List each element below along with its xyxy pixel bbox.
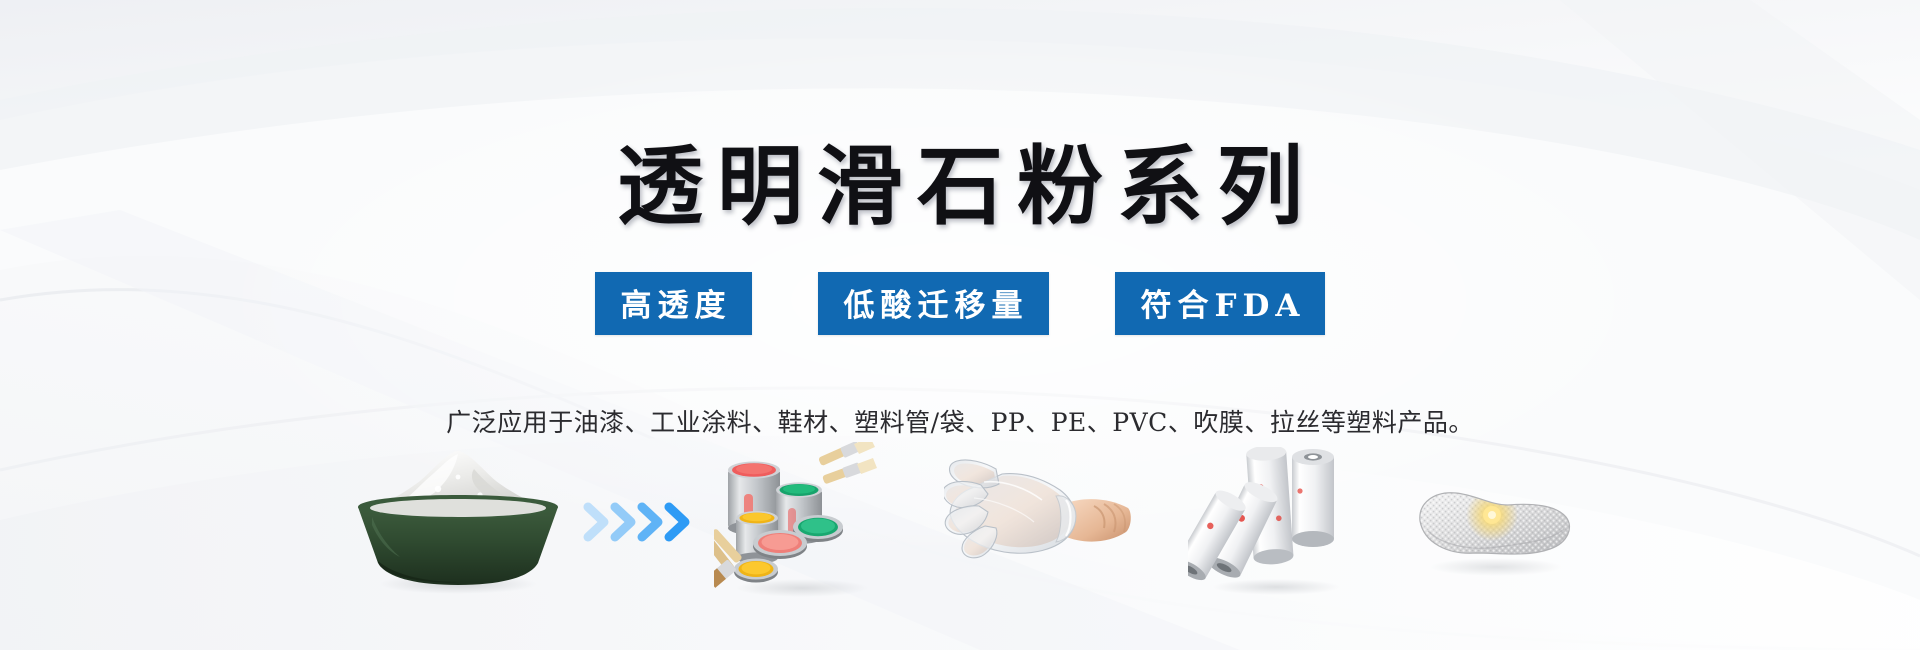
product-illustration-strip — [0, 432, 1920, 612]
paint-cans-image — [714, 442, 884, 602]
shoe-sole-image — [1408, 447, 1578, 597]
feature-badge-list: 高透度 低酸迁移量 符合FDA — [0, 272, 1920, 335]
badge-high-transparency[interactable]: 高透度 — [595, 272, 752, 335]
process-arrows-icon — [578, 487, 708, 557]
plastic-glove-image — [944, 452, 1134, 592]
promo-banner: 透明滑石粉系列 高透度 低酸迁移量 符合FDA 广泛应用于油漆、工业涂料、鞋材、… — [0, 0, 1920, 650]
page-title: 透明滑石粉系列 — [603, 142, 1317, 232]
banner-title-container: 透明滑石粉系列 — [0, 84, 1920, 290]
badge-fda-compliant[interactable]: 符合FDA — [1115, 272, 1326, 335]
plastic-film-rolls-image — [1188, 447, 1358, 597]
badge-low-acid-migration[interactable]: 低酸迁移量 — [818, 272, 1049, 335]
talc-powder-bowl-image — [342, 447, 572, 597]
